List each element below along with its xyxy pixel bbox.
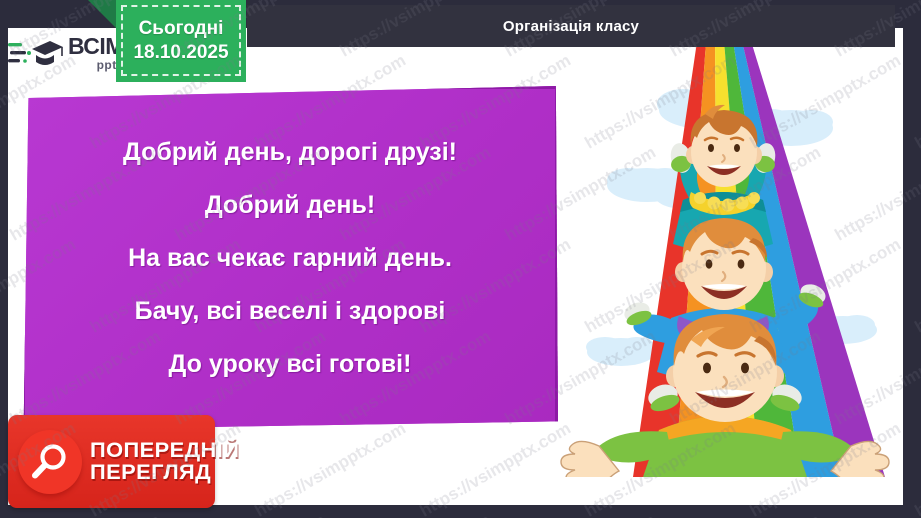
illustration-three-children-on-rainbow bbox=[555, 0, 895, 477]
slide-root: Добрий день, дорогі друзі! Добрий день! … bbox=[0, 0, 921, 518]
preview-badge-line-1: ПОПЕРЕДНІЙ bbox=[90, 440, 239, 461]
preview-badge-text: ПОПЕРЕДНІЙ ПЕРЕГЛЯД bbox=[90, 440, 234, 483]
watermark-text: https://vsimpptx.com bbox=[336, 511, 494, 518]
greeting-line-2: Добрий день! bbox=[205, 193, 375, 218]
rainbow-children-svg bbox=[555, 0, 895, 477]
watermark-text: https://vsimpptx.com bbox=[911, 51, 921, 154]
date-tag-label: Сьогодні bbox=[139, 18, 224, 40]
watermark-text: https://vsimpptx.com bbox=[831, 511, 921, 518]
greeting-line-1: Добрий день, дорогі друзі! bbox=[123, 140, 457, 165]
greeting-line-4: Бачу, всі веселі і здорові bbox=[135, 299, 446, 324]
watermark-text: https://vsimpptx.com bbox=[171, 511, 329, 518]
watermark-text: https://vsimpptx.com bbox=[501, 511, 659, 518]
preview-badge[interactable]: ПОПЕРЕДНІЙ ПЕРЕГЛЯД bbox=[8, 415, 215, 508]
watermark-text: https://vsimpptx.com bbox=[911, 419, 921, 518]
greeting-box-text: Добрий день, дорогі друзі! Добрий день! … bbox=[22, 86, 558, 430]
graduation-cap-icon bbox=[8, 33, 64, 73]
today-date-tag: Сьогодні 18.10.2025 bbox=[88, 0, 252, 84]
watermark-text: https://vsimpptx.com bbox=[666, 511, 824, 518]
watermark-text: https://vsimpptx.com bbox=[911, 235, 921, 338]
page-title: Організація класу bbox=[503, 18, 639, 35]
date-tag-value: 18.10.2025 bbox=[133, 42, 228, 64]
preview-badge-line-2: ПЕРЕГЛЯД bbox=[90, 462, 239, 483]
greeting-line-3: На вас чекає гарний день. bbox=[128, 246, 452, 271]
greeting-line-5: До уроку всі готові! bbox=[169, 352, 412, 377]
date-tag-body: Сьогодні 18.10.2025 bbox=[116, 0, 246, 82]
magnifier-icon bbox=[18, 430, 82, 494]
slide-header-bar: Організація класу bbox=[247, 5, 895, 47]
watermark-text: https://vsimpptx.com bbox=[6, 511, 164, 518]
